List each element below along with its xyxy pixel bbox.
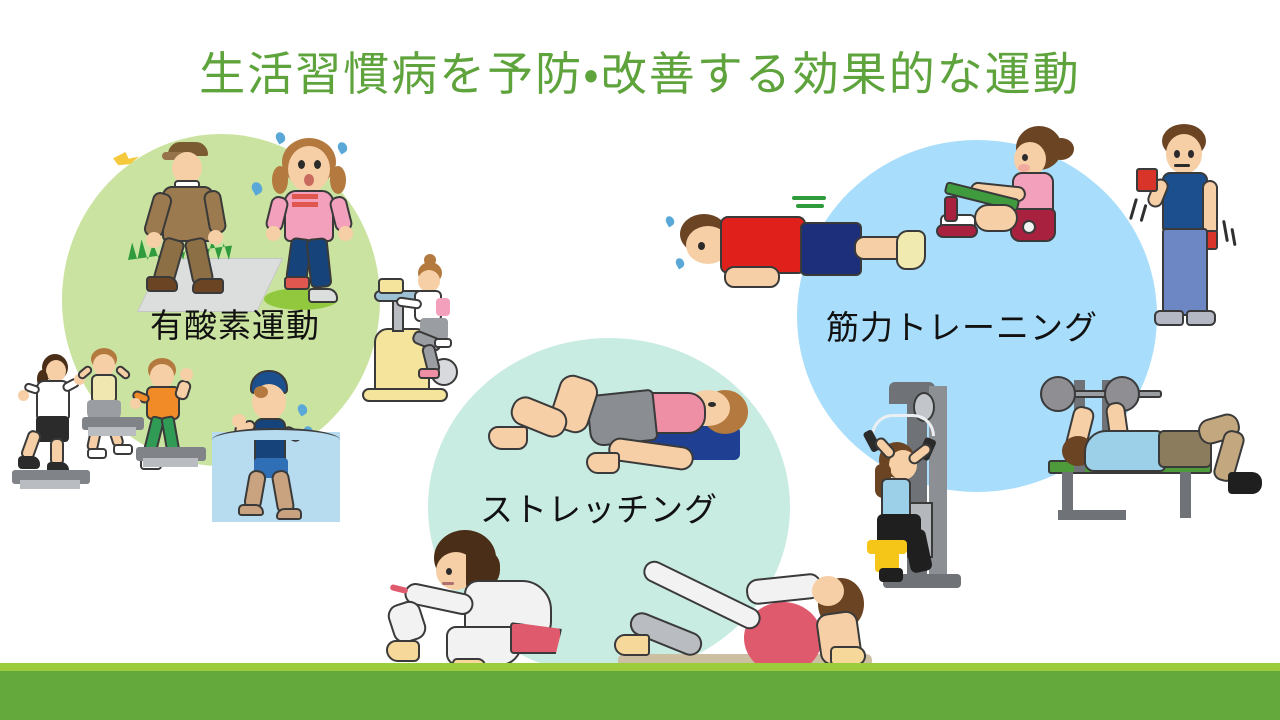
footer-accent-bar	[0, 663, 1280, 671]
slide-canvas: 生活習慣病を予防・改善する効果的な運動	[0, 0, 1280, 720]
jogging-girl	[262, 138, 358, 304]
dumbbell-curl-man	[1140, 124, 1250, 346]
water-walking-woman	[232, 370, 328, 520]
lat-pulldown-woman	[855, 372, 977, 590]
step-platform-middle-base	[88, 427, 136, 436]
supine-stretch-woman	[480, 366, 760, 488]
bench-press-man	[1022, 368, 1272, 520]
page-title: 生活習慣病を予防・改善する効果的な運動	[0, 46, 1280, 102]
strength-label: 筋力トレーニング	[826, 309, 1098, 347]
plank-man	[672, 200, 924, 296]
stretching-label: ストレッチング	[480, 491, 718, 529]
step-platform-right-base	[143, 458, 198, 467]
forward-bend-woman	[390, 530, 590, 670]
footer-bar	[0, 671, 1280, 720]
walking-man	[140, 140, 248, 300]
aerobic-label: 有酸素運動	[150, 307, 320, 345]
exercise-ball-bridge-woman	[618, 560, 898, 672]
stationary-bike-woman	[352, 262, 472, 410]
resistance-band-woman	[930, 126, 1080, 252]
